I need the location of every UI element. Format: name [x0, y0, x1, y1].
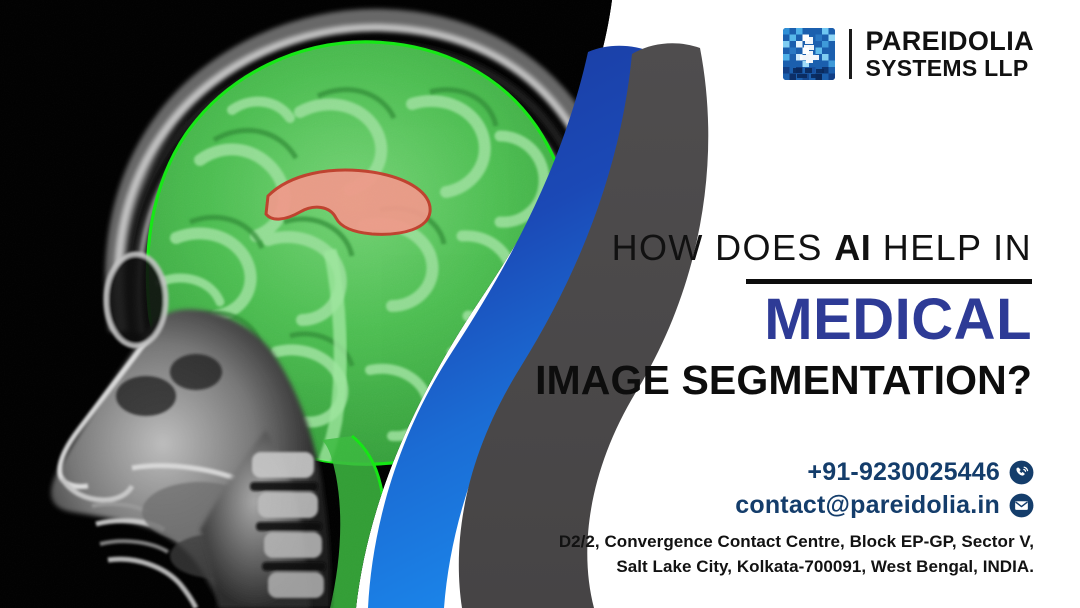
contact-phone-row[interactable]: +91-9230025446 [514, 458, 1034, 487]
contact-block: +91-9230025446 contact@pareidolia.in [514, 458, 1034, 524]
contact-email-address[interactable]: contact@pareidolia.in [735, 491, 1000, 520]
contact-email-row[interactable]: contact@pareidolia.in [514, 491, 1034, 520]
poster-canvas: PAREIDOLIA SYSTEMS LLP HOW DOES AI HELP … [0, 0, 1080, 608]
headline-line1-prefix: HOW DOES [612, 227, 835, 268]
contact-phone-number[interactable]: +91-9230025446 [807, 458, 1000, 487]
envelope-icon[interactable] [1009, 493, 1034, 518]
address-block: D2/2, Convergence Contact Centre, Block … [474, 530, 1034, 579]
brand-name: PAREIDOLIA SYSTEMS LLP [865, 28, 1034, 80]
headline-block: HOW DOES AI HELP IN MEDICAL IMAGE SEGMEN… [472, 228, 1032, 405]
headline-divider-rule [746, 279, 1032, 284]
headline-line-2: MEDICAL [472, 288, 1032, 353]
address-line-1: D2/2, Convergence Contact Centre, Block … [474, 530, 1034, 555]
phone-icon[interactable] [1009, 460, 1034, 485]
headline-line1-suffix: HELP IN [871, 227, 1032, 268]
pareidolia-mosaic-logo-icon [783, 28, 835, 80]
brand-name-line2: SYSTEMS LLP [865, 57, 1034, 80]
logo-divider [849, 29, 852, 79]
brand-logo: PAREIDOLIA SYSTEMS LLP [783, 28, 1034, 80]
headline-line-3: IMAGE SEGMENTATION? [472, 356, 1032, 404]
headline-line1-emphasis: AI [834, 227, 871, 268]
brand-name-line1: PAREIDOLIA [865, 28, 1034, 56]
headline-line-1: HOW DOES AI HELP IN [472, 228, 1032, 268]
address-line-2: Salt Lake City, Kolkata-700091, West Ben… [474, 555, 1034, 580]
